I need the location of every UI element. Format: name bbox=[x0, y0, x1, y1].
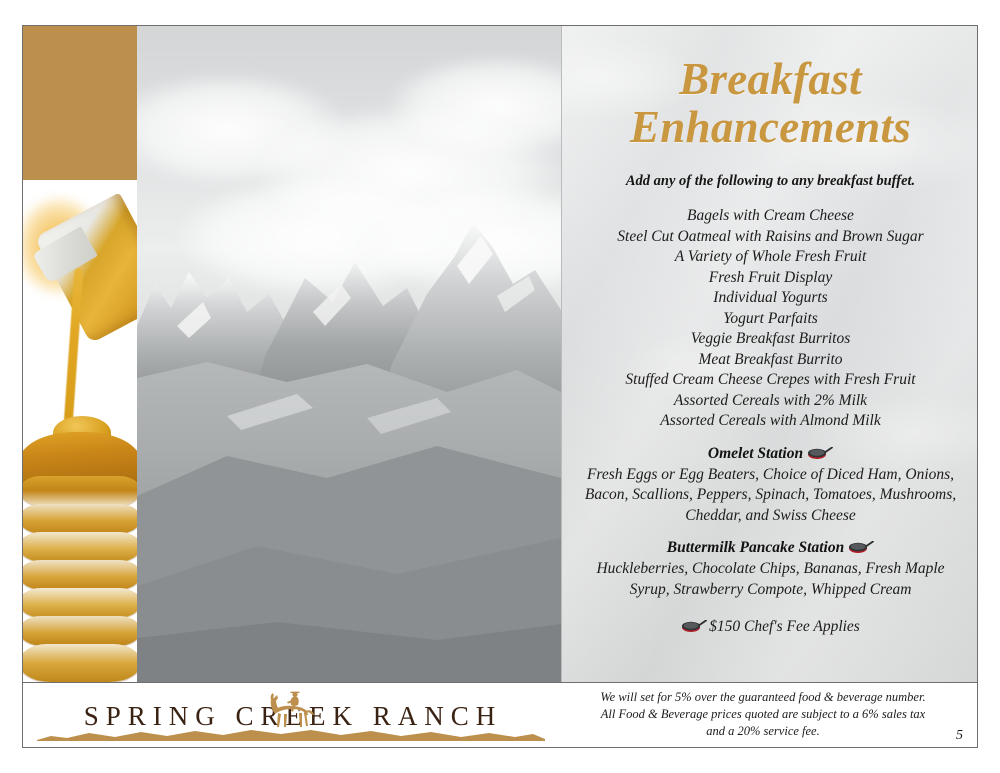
station-pancake-title-row: Buttermilk Pancake Station bbox=[667, 539, 874, 557]
menu-item: Bagels with Cream Cheese bbox=[572, 206, 969, 227]
terms-line: All Food & Beverage prices quoted are su… bbox=[563, 706, 963, 723]
menu-item: Assorted Cereals with Almond Milk bbox=[572, 411, 969, 432]
brand-logo: SPRING CREEK RANCH bbox=[33, 685, 553, 747]
menu-item: Individual Yogurts bbox=[572, 288, 969, 309]
page-number: 5 bbox=[956, 728, 963, 744]
menu-item: Veggie Breakfast Burritos bbox=[572, 329, 969, 350]
pancake-layer bbox=[23, 644, 137, 682]
skillet-icon bbox=[848, 541, 874, 555]
syrup-pancakes-photo bbox=[23, 180, 137, 682]
pancake-layer bbox=[23, 504, 137, 534]
station-omelet: Omelet Station Fresh Eggs or Egg Beaters… bbox=[572, 445, 969, 527]
left-image-strip bbox=[23, 26, 137, 682]
page-title-line1: Breakfast bbox=[679, 54, 862, 104]
gold-color-block bbox=[23, 26, 137, 180]
page-body: Breakfast Enhancements Add any of the fo… bbox=[23, 26, 977, 682]
menu-item: Steel Cut Oatmeal with Raisins and Brown… bbox=[572, 227, 969, 248]
pancake-layer bbox=[23, 560, 137, 590]
terms-line: and a 20% service fee. bbox=[563, 723, 963, 740]
menu-item: Yogurt Parfaits bbox=[572, 309, 969, 330]
station-pancake-description: Huckleberries, Chocolate Chips, Bananas,… bbox=[572, 559, 969, 600]
station-pancake-title: Buttermilk Pancake Station bbox=[667, 539, 844, 557]
mountain-photo bbox=[137, 26, 561, 682]
menu-page: Breakfast Enhancements Add any of the fo… bbox=[22, 25, 978, 748]
menu-item-list: Bagels with Cream Cheese Steel Cut Oatme… bbox=[572, 206, 969, 432]
menu-item: Fresh Fruit Display bbox=[572, 268, 969, 289]
logo-ridge-graphic bbox=[37, 728, 545, 741]
skillet-icon bbox=[807, 447, 833, 461]
station-pancake: Buttermilk Pancake Station Huckleberries… bbox=[572, 539, 969, 600]
mountain-silhouette bbox=[137, 26, 561, 682]
skillet-icon bbox=[681, 620, 707, 634]
menu-item: Assorted Cereals with 2% Milk bbox=[572, 391, 969, 412]
chef-fee-note: $150 Chef's Fee Applies bbox=[572, 618, 969, 636]
menu-item: Stuffed Cream Cheese Crepes with Fresh F… bbox=[572, 370, 969, 391]
terms-line: We will set for 5% over the guaranteed f… bbox=[563, 689, 963, 706]
page-title: Breakfast Enhancements bbox=[572, 26, 969, 151]
menu-item: A Variety of Whole Fresh Fruit bbox=[572, 247, 969, 268]
chef-fee-text: $150 Chef's Fee Applies bbox=[709, 618, 860, 636]
station-omelet-title-row: Omelet Station bbox=[708, 445, 833, 463]
menu-text-panel: Breakfast Enhancements Add any of the fo… bbox=[562, 26, 977, 682]
station-omelet-title: Omelet Station bbox=[708, 445, 803, 463]
page-footer: SPRING CREEK RANCH bbox=[23, 682, 977, 748]
pancake-layer bbox=[23, 588, 137, 618]
page-subheading: Add any of the following to any breakfas… bbox=[572, 173, 969, 190]
pancake-stack bbox=[23, 432, 137, 682]
pancake-layer bbox=[23, 532, 137, 562]
page-title-line2: Enhancements bbox=[572, 104, 969, 152]
menu-item: Meat Breakfast Burrito bbox=[572, 350, 969, 371]
pancake-layer bbox=[23, 476, 137, 506]
pancake-layer bbox=[23, 616, 137, 646]
terms-and-conditions: We will set for 5% over the guaranteed f… bbox=[563, 689, 963, 740]
station-omelet-description: Fresh Eggs or Egg Beaters, Choice of Dic… bbox=[572, 465, 969, 527]
